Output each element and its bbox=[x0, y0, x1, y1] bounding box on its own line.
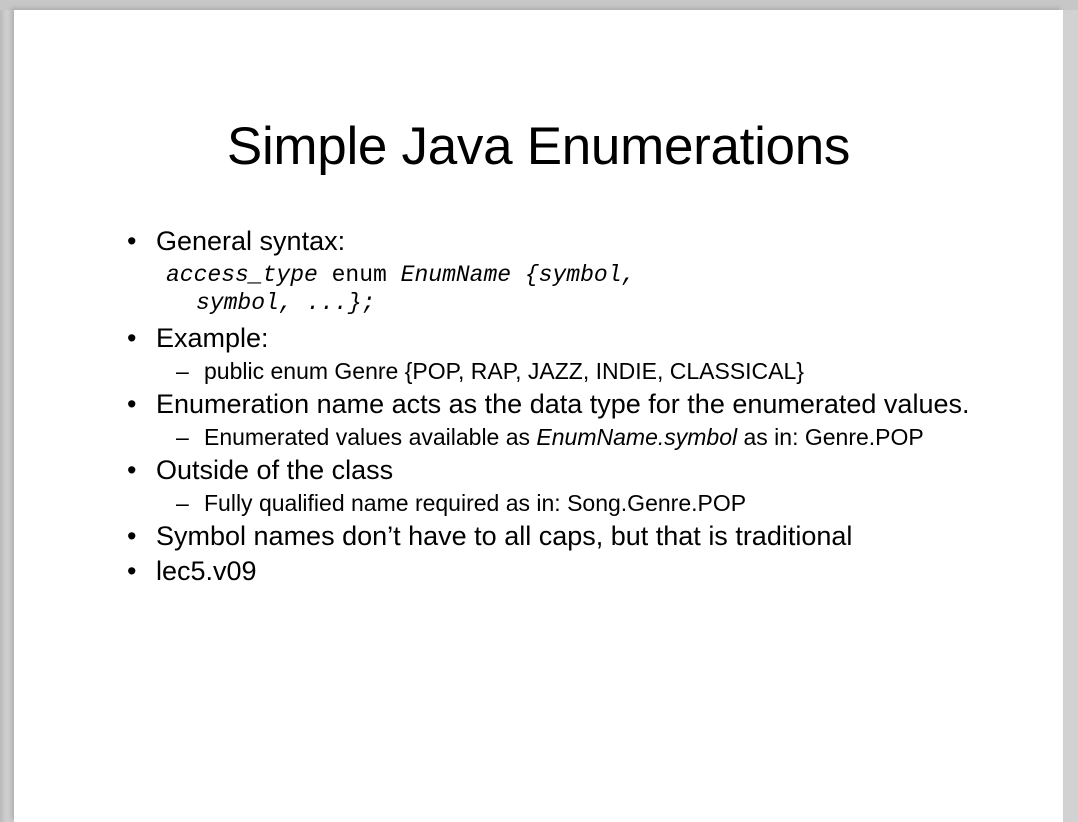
bullet-symbol-names-caps-label: Symbol names don’t have to all caps, but… bbox=[156, 521, 852, 551]
bullet-dot-icon: • bbox=[127, 454, 136, 487]
sub-bullet-dash-icon: – bbox=[176, 489, 189, 518]
sub-bullet-enumerated-values-suffix: as in: Genre.POP bbox=[737, 424, 924, 450]
sub-bullet-dash-icon: – bbox=[176, 423, 189, 452]
slide-body: • General syntax: access_type enum EnumN… bbox=[106, 225, 1036, 590]
slide-title: Simple Java Enumerations bbox=[14, 117, 1063, 177]
slide-page: Simple Java Enumerations • General synta… bbox=[14, 10, 1063, 822]
code-line-syntax-1: access_type enum EnumName {symbol, bbox=[106, 261, 1036, 290]
sub-bullet-dash-icon: – bbox=[176, 357, 189, 386]
bullet-dot-icon: • bbox=[127, 322, 136, 355]
bullet-lecture-version-label: lec5.v09 bbox=[156, 556, 257, 586]
bullet-outside-class-label: Outside of the class bbox=[156, 455, 393, 485]
slide-title-text: Simple Java Enumerations bbox=[227, 117, 850, 176]
bullet-enum-name-data-type-label: Enumeration name acts as the data type f… bbox=[156, 389, 969, 419]
sub-bullet-enumerated-values: –Enumerated values available as EnumName… bbox=[106, 423, 1036, 452]
code-token-enum-keyword: enum bbox=[318, 262, 401, 288]
bullet-general-syntax: • General syntax: bbox=[106, 225, 1036, 258]
sub-bullet-enumerated-values-prefix: Enumerated values available as bbox=[204, 424, 536, 450]
viewer-top-band bbox=[0, 0, 1078, 10]
code-line-syntax-2: symbol, ...}; bbox=[106, 289, 1036, 318]
bullet-dot-icon: • bbox=[127, 520, 136, 553]
code-token-symbol-close: symbol, ...}; bbox=[196, 290, 375, 316]
bullet-lecture-version: • lec5.v09 bbox=[106, 555, 1036, 588]
code-token-access-type: access_type bbox=[166, 262, 318, 288]
slide-viewer: Simple Java Enumerations • General synta… bbox=[0, 0, 1078, 822]
sub-bullet-example-genre-label: public enum Genre {POP, RAP, JAZZ, INDIE… bbox=[204, 358, 804, 384]
sub-bullet-enumname-symbol-emphasis: EnumName.symbol bbox=[536, 424, 737, 450]
bullet-general-syntax-label: General syntax: bbox=[156, 226, 345, 256]
bullet-enum-name-data-type: • Enumeration name acts as the data type… bbox=[106, 388, 1036, 421]
sub-bullet-fully-qualified-name-label: Fully qualified name required as in: Son… bbox=[204, 490, 746, 516]
bullet-symbol-names-caps: • Symbol names don’t have to all caps, b… bbox=[106, 520, 1036, 553]
code-token-enumname-open: EnumName {symbol, bbox=[401, 262, 636, 288]
bullet-dot-icon: • bbox=[127, 555, 136, 588]
bullet-outside-class: • Outside of the class bbox=[106, 454, 1036, 487]
bullet-example: • Example: bbox=[106, 322, 1036, 355]
bullet-example-label: Example: bbox=[156, 323, 269, 353]
sub-bullet-fully-qualified-name: – Fully qualified name required as in: S… bbox=[106, 489, 1036, 518]
bullet-dot-icon: • bbox=[127, 388, 136, 421]
sub-bullet-example-genre: – public enum Genre {POP, RAP, JAZZ, IND… bbox=[106, 357, 1036, 386]
bullet-dot-icon: • bbox=[127, 225, 136, 258]
slide-content-area: Simple Java Enumerations • General synta… bbox=[14, 10, 1063, 822]
